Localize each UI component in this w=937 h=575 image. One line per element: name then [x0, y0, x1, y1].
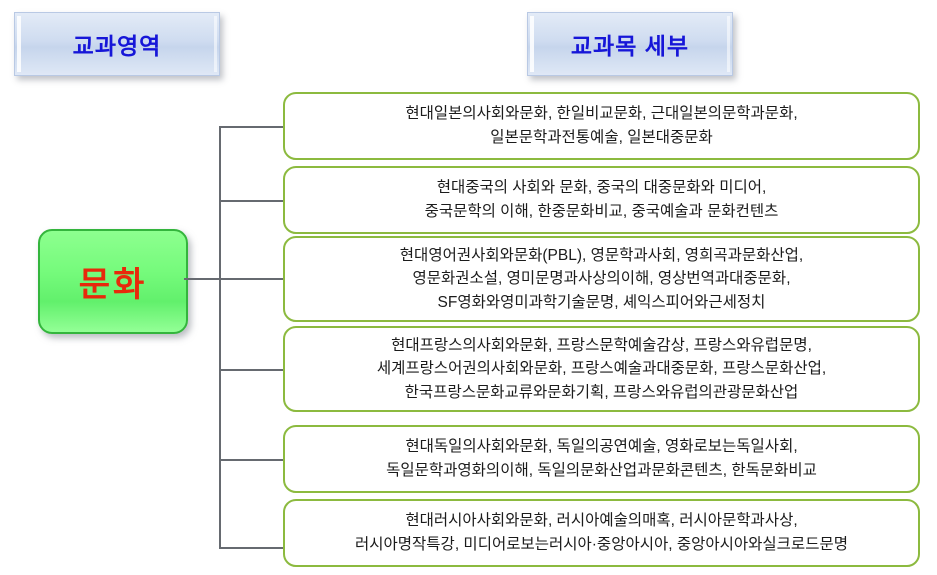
header-curriculum-area-label: 교과영역 — [73, 27, 162, 61]
subject-line: 러시아명작특강, 미디어로보는러시아·중앙아시아, 중앙아시아와실크로드문명 — [355, 533, 848, 557]
subject-line: 현대러시아사회와문화, 러시아예술의매혹, 러시아문학과사상, — [405, 509, 797, 533]
subject-box-russia: 현대러시아사회와문화, 러시아예술의매혹, 러시아문학과사상, 러시아명작특강,… — [283, 499, 920, 567]
subject-line: 현대영어권사회와문화(PBL), 영문학과사회, 영희곡과문화산업, — [400, 244, 803, 268]
subject-line: 일본문학과전통예술, 일본대중문화 — [490, 126, 713, 150]
subject-line: 영문화권소설, 영미문명과사상의이해, 영상번역과대중문화, — [412, 267, 790, 291]
subject-line: 중국문학의 이해, 한중문화비교, 중국예술과 문화컨텐츠 — [425, 200, 779, 224]
subject-line: 현대독일의사회와문화, 독일의공연예술, 영화로보는독일사회, — [405, 435, 797, 459]
subject-line: 현대일본의사회와문화, 한일비교문화, 근대일본의문학과문화, — [405, 102, 797, 126]
root-node-label: 문화 — [79, 257, 148, 306]
connector-branch-3 — [219, 278, 283, 280]
connector-root-stem — [184, 278, 220, 280]
subject-box-germany: 현대독일의사회와문화, 독일의공연예술, 영화로보는독일사회, 독일문학과영화의… — [283, 425, 920, 493]
header-subject-detail: 교과목 세부 — [527, 12, 733, 76]
connector-branch-1 — [219, 126, 283, 128]
subject-box-english: 현대영어권사회와문화(PBL), 영문학과사회, 영희곡과문화산업, 영문화권소… — [283, 236, 920, 322]
root-node-culture: 문화 — [38, 229, 188, 334]
connector-branch-2 — [219, 200, 283, 202]
diagram-canvas: 교과영역 교과목 세부 문화 현대일본의사회와문화, 한일비교문화, 근대일본의… — [0, 0, 937, 575]
subject-line: 현대프랑스의사회와문화, 프랑스문학예술감상, 프랑스와유럽문명, — [391, 334, 812, 358]
subject-box-japan: 현대일본의사회와문화, 한일비교문화, 근대일본의문학과문화, 일본문학과전통예… — [283, 92, 920, 160]
subject-line: 세계프랑스어권의사회와문화, 프랑스예술과대중문화, 프랑스문화산업, — [377, 357, 826, 381]
subject-box-china: 현대중국의 사회와 문화, 중국의 대중문화와 미디어, 중국문학의 이해, 한… — [283, 166, 920, 234]
connector-branch-6 — [219, 547, 283, 549]
header-subject-detail-label: 교과목 세부 — [571, 27, 689, 61]
subject-line: 한국프랑스문화교류와문화기획, 프랑스와유럽의관광문화산업 — [405, 381, 799, 405]
subject-line: 독일문학과영화의이해, 독일의문화산업과문화콘텐츠, 한독문화비교 — [386, 459, 817, 483]
connector-branch-4 — [219, 369, 283, 371]
subject-box-france: 현대프랑스의사회와문화, 프랑스문학예술감상, 프랑스와유럽문명, 세계프랑스어… — [283, 326, 920, 412]
subject-line: SF영화와영미과학기술문명, 셰익스피어와근세정치 — [438, 291, 766, 315]
connector-branch-5 — [219, 459, 283, 461]
subject-line: 현대중국의 사회와 문화, 중국의 대중문화와 미디어, — [437, 176, 767, 200]
header-curriculum-area: 교과영역 — [14, 12, 220, 76]
connector-trunk — [219, 126, 221, 548]
